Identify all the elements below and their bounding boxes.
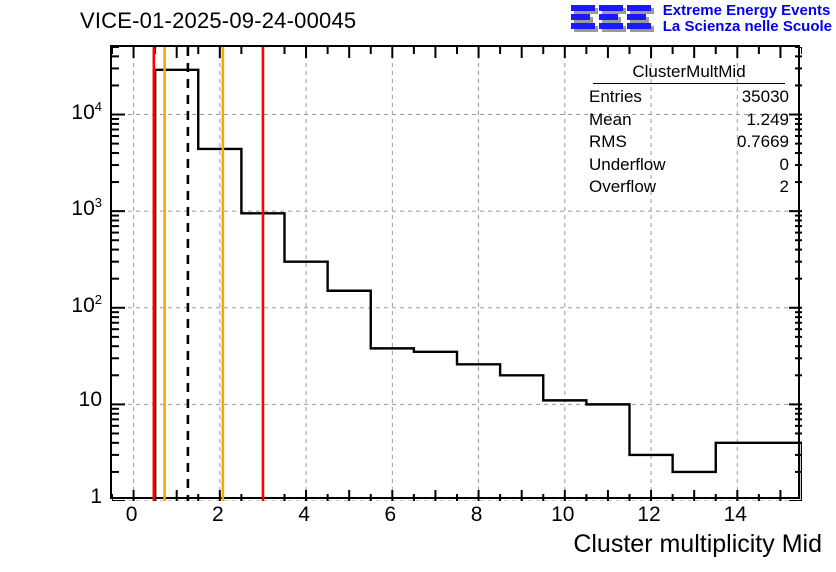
x-tick-label: 0 [112,503,152,527]
y-tick-label: 1 [90,485,102,509]
y-tick-label: 10 [79,388,102,412]
y-tick-label: 102 [71,292,102,318]
stats-row: RMS0.7669 [585,131,793,154]
x-tick-label: 6 [370,503,410,527]
x-tick-label: 12 [629,503,669,527]
stats-key: Underflow [589,154,666,177]
stats-title: ClusterMultMid [593,62,785,84]
stats-rows: Entries35030Mean1.249RMS0.7669Underflow0… [585,86,793,199]
x-tick-label: 14 [715,503,755,527]
stats-box: ClusterMultMid Entries35030Mean1.249RMS0… [585,62,793,199]
x-tick-label: 2 [198,503,238,527]
stats-row: Entries35030 [585,86,793,109]
stats-key: Mean [589,109,632,132]
x-tick-label: 8 [457,503,497,527]
root-canvas: VICE-01-2025-09-24-00045 [0,0,836,572]
stats-value: 0 [780,154,789,177]
stats-row: Mean1.249 [585,109,793,132]
x-axis-title: Cluster multiplicity Mid [573,530,822,559]
y-tick-label: 104 [71,99,102,125]
stats-row: Underflow0 [585,154,793,177]
stats-value: 35030 [742,86,789,109]
x-tick-label: 10 [543,503,583,527]
stats-key: Overflow [589,176,656,199]
page-title: VICE-01-2025-09-24-00045 [80,8,356,34]
eee-mark-icon [569,2,657,36]
stats-row: Overflow2 [585,176,793,199]
logo-line-1: Extreme Energy Events [663,3,832,19]
stats-value: 2 [780,176,789,199]
eee-logo: Extreme Energy Events La Scienza nelle S… [569,2,832,36]
y-tick-label: 103 [71,195,102,221]
stats-value: 0.7669 [737,131,789,154]
stats-value: 1.249 [746,109,789,132]
stats-key: RMS [589,131,627,154]
logo-line-2: La Scienza nelle Scuole [663,19,832,35]
x-tick-label: 4 [284,503,324,527]
stats-key: Entries [589,86,642,109]
